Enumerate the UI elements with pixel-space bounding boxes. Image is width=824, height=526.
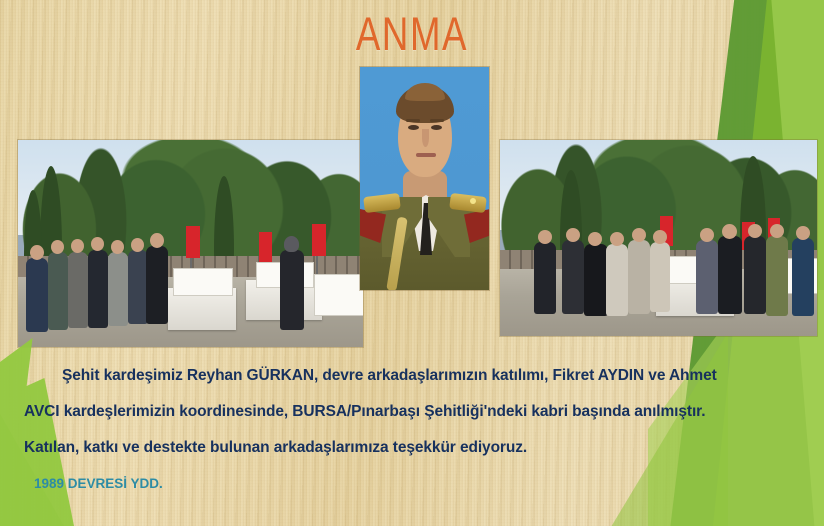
eyebrow-right	[430, 119, 444, 122]
person-head	[150, 233, 164, 248]
person	[108, 252, 128, 326]
person	[146, 246, 168, 324]
person	[650, 242, 670, 312]
nose	[422, 129, 429, 147]
person-head	[796, 226, 810, 240]
headstone	[173, 268, 233, 296]
person-head	[748, 224, 762, 238]
person-head	[632, 228, 646, 242]
person	[792, 238, 814, 316]
person-head	[71, 239, 84, 253]
photo-ceremony-right	[500, 140, 817, 336]
person-head	[284, 236, 299, 252]
person-head	[30, 245, 44, 260]
person-head	[51, 240, 64, 254]
eyebrow-left	[406, 119, 420, 122]
person	[696, 240, 718, 314]
mouth	[416, 153, 436, 157]
body-text-block: Şehit kardeşimiz Reyhan GÜRKAN, devre ar…	[0, 366, 824, 493]
page-title: ANMA	[91, 8, 734, 60]
person-head	[131, 238, 144, 252]
body-line-3: Katılan, katkı ve destekte bulunan arkad…	[0, 438, 824, 457]
person	[628, 240, 650, 314]
body-line-1: Şehit kardeşimiz Reyhan GÜRKAN, devre ar…	[0, 366, 824, 385]
person	[606, 244, 628, 316]
person-head	[91, 237, 104, 251]
signature-line: 1989 DEVRESİ YDD.	[0, 474, 824, 493]
person	[562, 240, 584, 314]
person	[128, 250, 148, 324]
person-head	[111, 240, 124, 254]
person-head	[588, 232, 602, 246]
eye-right	[431, 125, 442, 130]
body-line-2: AVCI kardeşlerimizin koordinesinde, BURS…	[0, 402, 824, 421]
person-head	[653, 230, 667, 244]
presentation-slide: ANMA	[0, 0, 824, 526]
turkish-flag	[259, 232, 272, 262]
person-soldier	[766, 236, 788, 316]
person	[88, 250, 108, 328]
person-head	[610, 232, 624, 246]
person-head	[722, 224, 737, 239]
person	[280, 250, 304, 330]
headstone	[314, 274, 363, 316]
person	[718, 236, 742, 314]
person	[534, 242, 556, 314]
photo-ceremony-left	[18, 140, 363, 347]
person-head	[538, 230, 552, 244]
person	[26, 258, 48, 332]
person	[68, 252, 88, 328]
turkish-flag	[312, 224, 326, 256]
photo-portrait-martyr	[360, 67, 489, 290]
person	[48, 252, 68, 330]
person-head	[770, 224, 784, 238]
person-head	[700, 228, 714, 242]
rank-star-icon	[470, 198, 476, 204]
person	[584, 244, 608, 316]
person-head	[566, 228, 580, 242]
person	[744, 236, 766, 314]
eye-left	[408, 125, 419, 130]
turkish-flag	[186, 226, 200, 258]
